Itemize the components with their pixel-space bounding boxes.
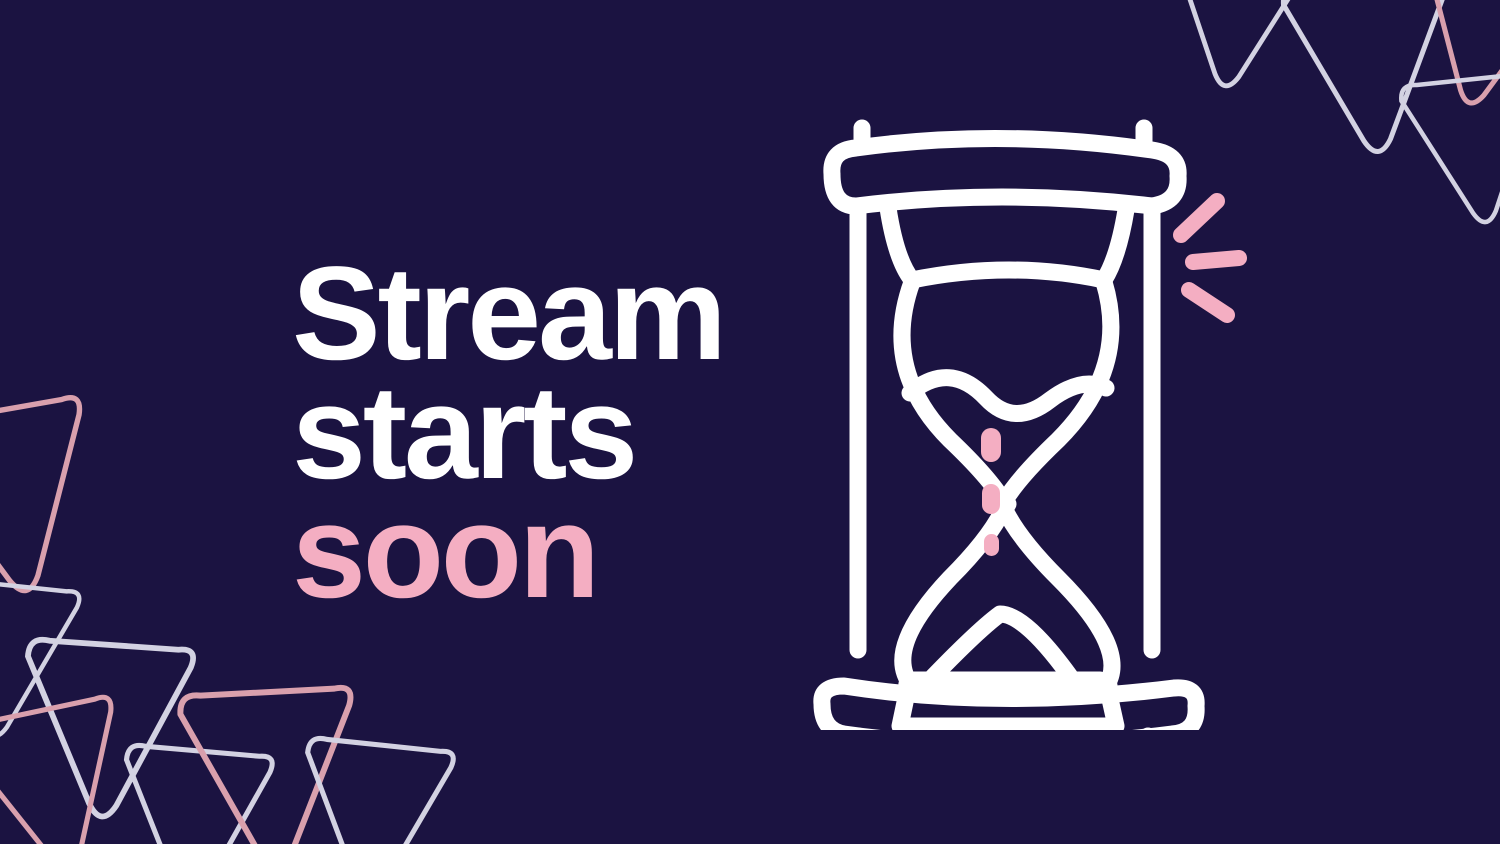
motion-mark-3	[1189, 290, 1227, 315]
triangle-left-2	[0, 577, 80, 743]
headline-line-1: Stream	[292, 255, 812, 374]
stream-starts-soon-banner: Stream starts soon	[0, 0, 1500, 844]
headline-line-3: soon	[292, 493, 812, 612]
triangle-top-right-3	[1397, 0, 1500, 117]
sand-dot-1	[981, 428, 1001, 462]
hourglass-top-cap	[832, 138, 1178, 206]
hourglass-lower-bulb	[903, 508, 1112, 686]
headline-line-2: starts	[292, 374, 812, 493]
triangle-bottom-5	[293, 737, 454, 844]
motion-mark-1	[1181, 201, 1217, 235]
motion-mark-2	[1193, 258, 1239, 262]
triangle-bottom-3	[115, 744, 273, 844]
triangle-bottom-1	[17, 639, 194, 822]
motion-marks	[1155, 175, 1275, 335]
triangle-bottom-4	[179, 687, 359, 844]
triangle-top-right-1	[1151, 0, 1316, 96]
triangle-left-1	[0, 396, 109, 606]
triangle-top-right-2	[1282, 0, 1456, 157]
sand-dot-2	[982, 484, 1000, 514]
sand-dot-3	[984, 534, 999, 556]
triangle-top-right-4	[1400, 72, 1500, 229]
triangle-bottom-2	[0, 696, 143, 844]
hourglass-collar	[888, 208, 1126, 280]
headline: Stream starts soon	[292, 255, 812, 612]
